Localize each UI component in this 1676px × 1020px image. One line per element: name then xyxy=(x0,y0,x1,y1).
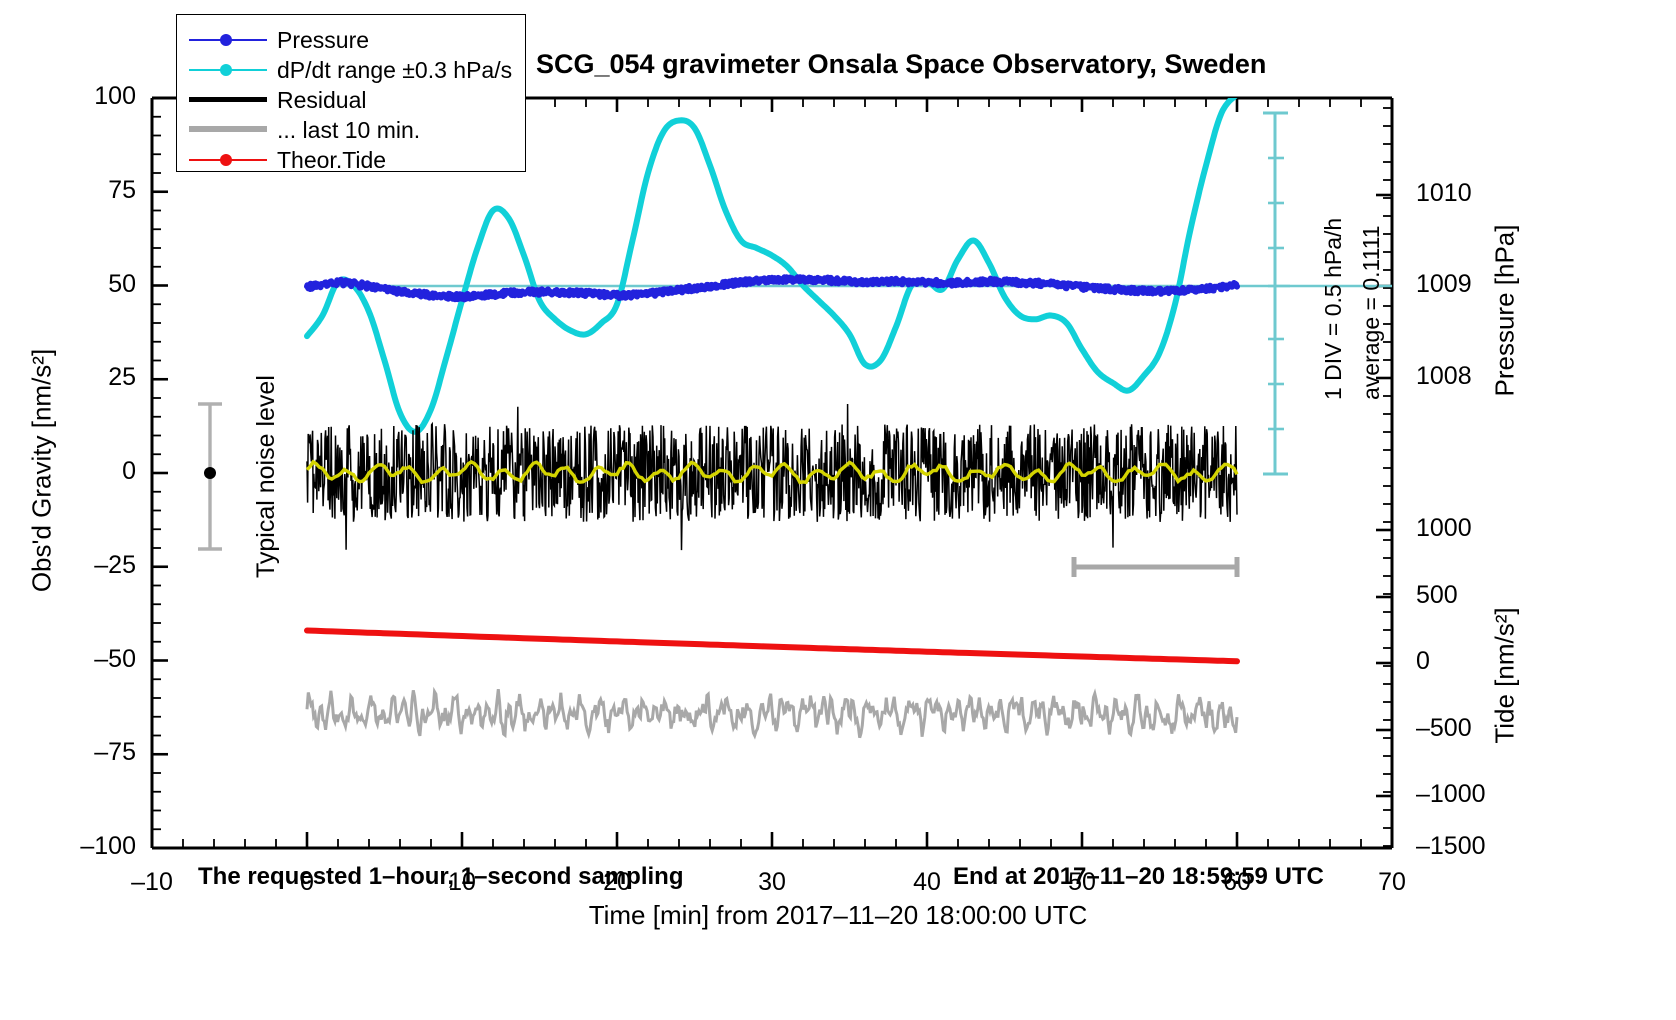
tick-label: 30 xyxy=(712,868,832,897)
legend-label-theortide: Theor.Tide xyxy=(277,147,386,174)
legend: Pressure dP/dt range ±0.3 hPa/s Residual… xyxy=(176,14,526,172)
tick-label: –100 xyxy=(0,832,136,861)
legend-label-dpdt: dP/dt range ±0.3 hPa/s xyxy=(277,57,512,84)
tick-label: –50 xyxy=(0,645,136,674)
tick-label: 60 xyxy=(1177,868,1297,897)
annotation-average: average = 0.1111 xyxy=(1358,225,1385,400)
legend-item-residual[interactable]: Residual xyxy=(177,85,525,115)
tick-label: 20 xyxy=(557,868,677,897)
tick-label: 25 xyxy=(0,363,136,392)
y-axis-pressure-label: Pressure [hPa] xyxy=(1490,171,1521,451)
tick-label: –1500 xyxy=(1416,832,1486,861)
tick-label: 1000 xyxy=(1416,514,1472,543)
annotation-noise-level: Typical noise level xyxy=(252,375,281,578)
tick-label: 40 xyxy=(867,868,987,897)
tick-label: 1009 xyxy=(1416,270,1472,299)
tick-label: –1000 xyxy=(1416,780,1486,809)
tick-label: 50 xyxy=(0,270,136,299)
legend-item-theortide[interactable]: Theor.Tide xyxy=(177,145,525,175)
tick-label: 50 xyxy=(1022,868,1142,897)
page-title: SCG_054 gravimeter Onsala Space Observat… xyxy=(536,49,1266,80)
legend-marker-dpdt xyxy=(220,64,232,76)
tick-label: 500 xyxy=(1416,581,1458,610)
tick-label: 75 xyxy=(0,176,136,205)
last10min-curve xyxy=(307,689,1237,738)
legend-item-last10[interactable]: ... last 10 min. xyxy=(177,115,525,145)
legend-label-residual: Residual xyxy=(277,87,367,114)
tick-label: 1010 xyxy=(1416,179,1472,208)
legend-marker-pressure xyxy=(220,34,232,46)
dpdt-scale-bar xyxy=(1263,113,1290,474)
tick-label: 0 xyxy=(1416,647,1430,676)
tick-label: –75 xyxy=(0,738,136,767)
tick-label: 1008 xyxy=(1416,362,1472,391)
tick-label: 10 xyxy=(402,868,522,897)
legend-item-pressure[interactable]: Pressure xyxy=(177,25,525,55)
tick-label: 100 xyxy=(0,82,136,111)
legend-marker-theortide xyxy=(220,154,232,166)
legend-line-last10 xyxy=(189,126,267,132)
tick-label: 0 xyxy=(0,457,136,486)
legend-label-pressure: Pressure xyxy=(277,27,369,54)
tick-label: –500 xyxy=(1416,714,1472,743)
y-axis-tide-label: Tide [nm/s²] xyxy=(1490,541,1521,811)
annotation-div-scale: 1 DIV = 0.5 hPa/h xyxy=(1320,218,1347,400)
x-axis-label: Time [min] from 2017–11–20 18:00:00 UTC xyxy=(0,900,1676,931)
theor-tide-curve xyxy=(307,631,1237,662)
tick-label: 70 xyxy=(1332,868,1452,897)
last10min-span-bar xyxy=(1074,557,1237,577)
legend-label-last10: ... last 10 min. xyxy=(277,117,420,144)
tick-label: –25 xyxy=(0,551,136,580)
legend-line-residual xyxy=(189,97,267,102)
tick-label: 0 xyxy=(247,868,367,897)
figure-root: SCG_054 gravimeter Onsala Space Observat… xyxy=(0,0,1676,1020)
legend-item-dpdt[interactable]: dP/dt range ±0.3 hPa/s xyxy=(177,55,525,85)
pressure-curve xyxy=(307,277,1237,299)
tick-label: –10 xyxy=(92,868,212,897)
noise-level-errorbar xyxy=(198,404,222,549)
y-axis-left-minor-ticks xyxy=(152,98,161,848)
